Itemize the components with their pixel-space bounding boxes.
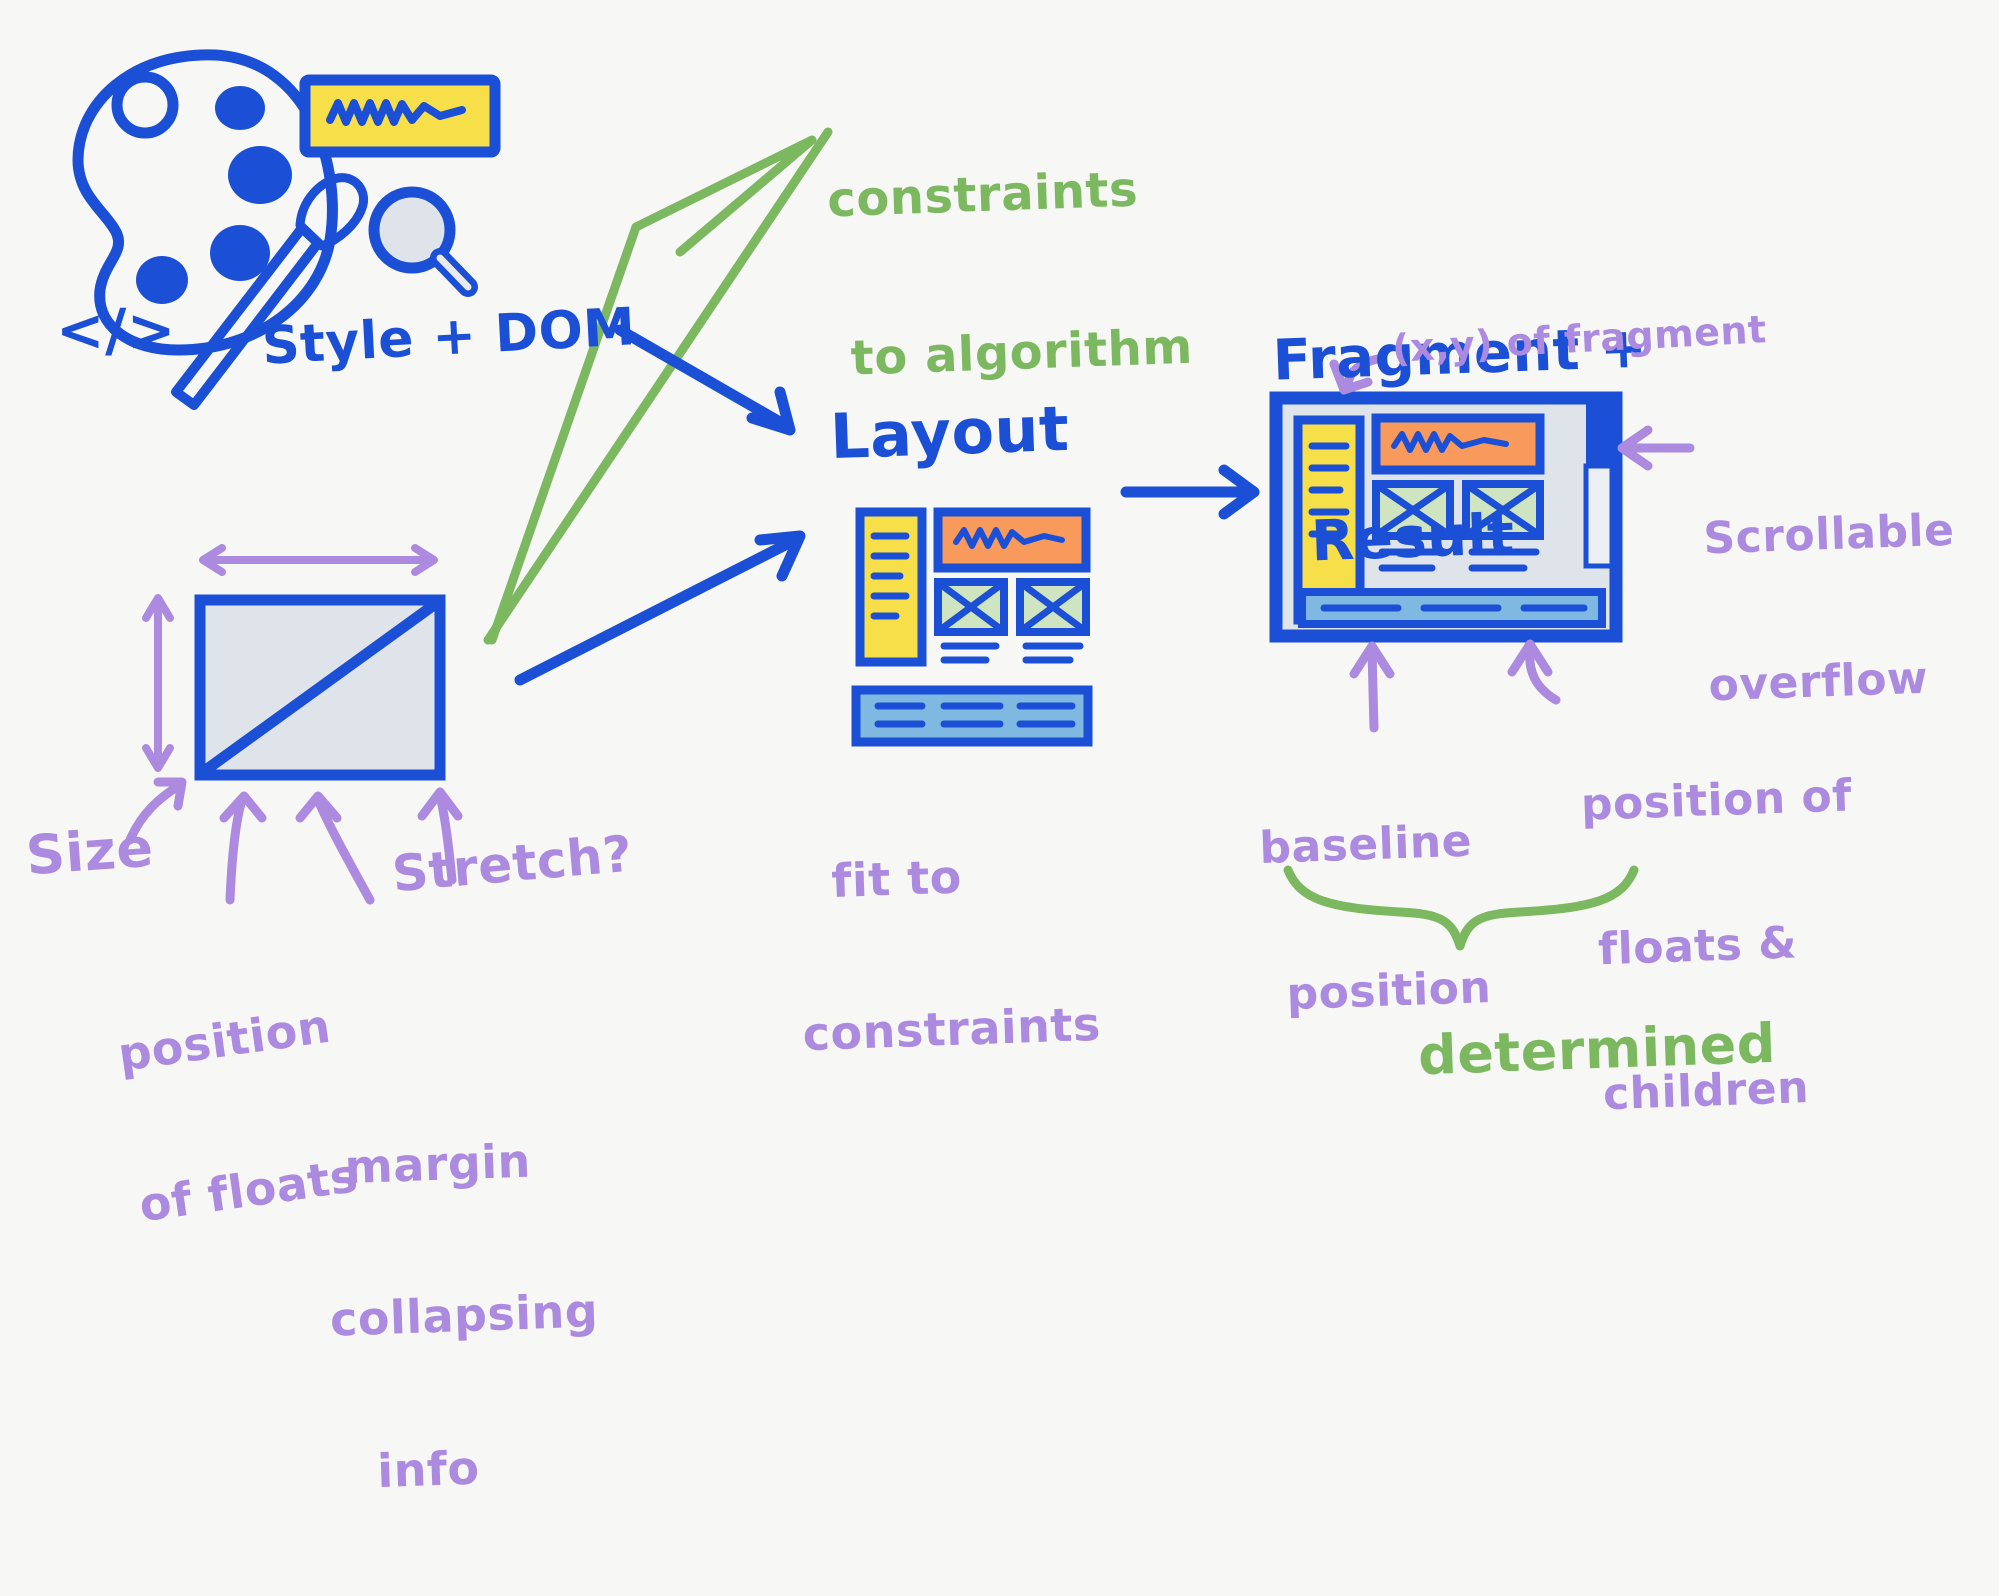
- position-floats-children-label: position of floats & children: [1577, 681, 1866, 1210]
- floats-children-line-1: position of: [1580, 774, 1852, 830]
- position-floats-line-1: position: [115, 1000, 340, 1078]
- fit-to-line-1: fit to: [831, 847, 1097, 904]
- fit-to-constraints-label: fit to constraints: [793, 751, 1105, 1156]
- margin-collapsing-line-3: info: [377, 1440, 605, 1496]
- margin-collapsing-line-2: collapsing: [329, 1287, 599, 1345]
- arrow-style-to-layout: [620, 330, 790, 430]
- constraint-box: [146, 548, 440, 775]
- layout-wireframe-mockup: [856, 512, 1088, 742]
- code-tag-icon: </>: [56, 300, 176, 361]
- yellow-text-bar-icon: [305, 80, 495, 152]
- floats-children-line-2: floats &: [1597, 918, 1857, 973]
- green-constraints-arrow: [488, 132, 828, 640]
- magnifier-icon: [374, 192, 468, 287]
- baseline-position-line-1: baseline: [1259, 818, 1487, 872]
- fit-to-line-2: constraints: [802, 1000, 1102, 1059]
- fragment-result-label: Fragment + Result: [1268, 202, 1659, 691]
- diagram-canvas: </> Style + DOM constraints to algorithm…: [0, 0, 1999, 1292]
- margin-collapsing-info-label: margin collapsing info: [321, 1037, 608, 1593]
- determined-label: determined: [1417, 1016, 1777, 1085]
- arrow-box-to-layout: [520, 536, 800, 680]
- baseline-position-line-2: position: [1286, 965, 1492, 1018]
- scrollable-overflow-line-1: Scrollable: [1703, 508, 1955, 563]
- constraints-line-1: constraints: [826, 163, 1188, 226]
- layout-label: Layout: [829, 396, 1070, 469]
- arrow-layout-to-fragment: [1126, 470, 1254, 514]
- constraints-line-2: to algorithm: [850, 322, 1194, 384]
- size-label: Size: [24, 820, 155, 885]
- fragment-result-line-2: Result: [1310, 501, 1654, 572]
- margin-collapsing-line-1: margin: [344, 1134, 594, 1191]
